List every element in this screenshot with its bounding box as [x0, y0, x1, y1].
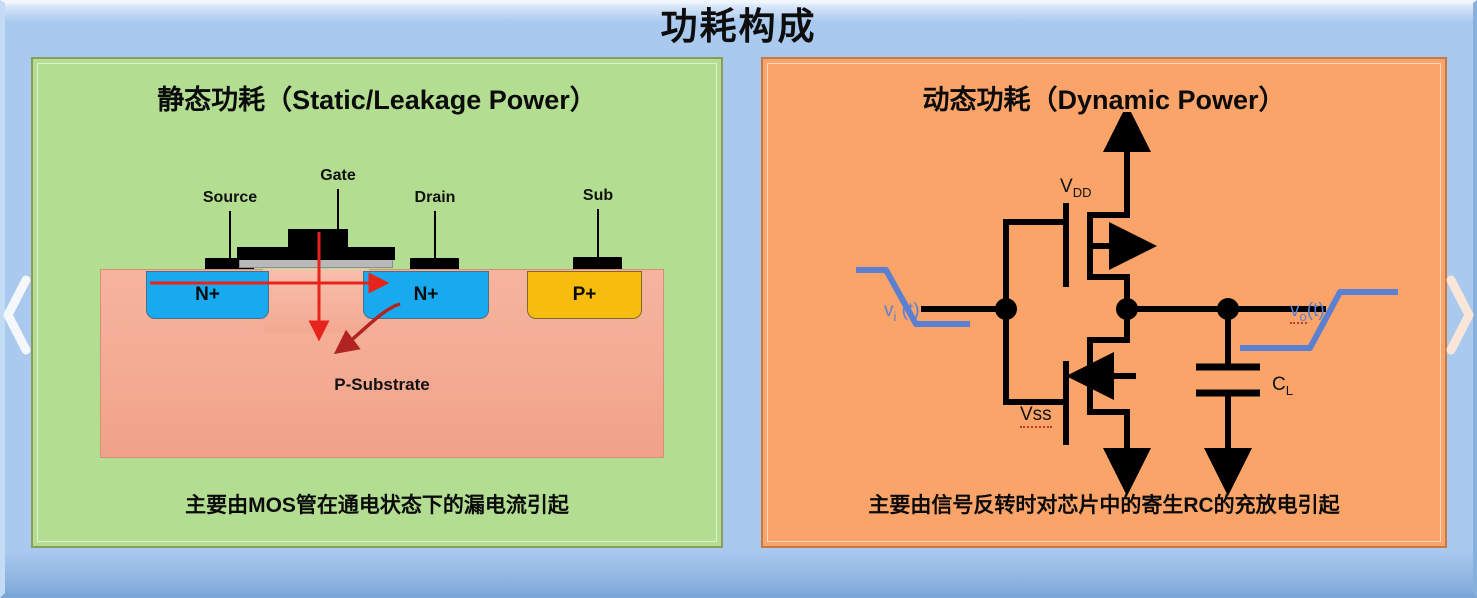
leakage-current-arrows — [100, 119, 664, 509]
panel-static-title: 静态功耗（Static/Leakage Power） — [38, 78, 716, 117]
panel-dynamic-power: 动态功耗（Dynamic Power） — [761, 57, 1447, 548]
panel-static-power: 静态功耗（Static/Leakage Power） Source Gate D… — [31, 57, 723, 548]
label-output-signal: vo(t) — [1290, 300, 1325, 324]
panel-static-inner: 静态功耗（Static/Leakage Power） Source Gate D… — [37, 63, 717, 542]
chevron-left-icon[interactable] — [3, 274, 33, 356]
page-title: 功耗构成 — [0, 4, 1477, 50]
chevron-right-icon[interactable] — [1444, 274, 1474, 356]
label-vdd: VDD — [1060, 176, 1091, 200]
input-node-dot — [995, 298, 1017, 320]
cmos-inverter-diagram: VDD Vss CL vi (t) vo(t) — [828, 112, 1398, 512]
mosfet-cross-section-diagram: Source Gate Drain Sub P-Substrate N+ N+ … — [100, 119, 664, 509]
panel-static-caption: 主要由MOS管在通电状态下的漏电流引起 — [38, 489, 716, 519]
output-node-dot — [1116, 298, 1138, 320]
label-input-signal: vi (t) — [884, 300, 920, 324]
panel-dynamic-caption: 主要由信号反转时对芯片中的寄生RC的充放电引起 — [768, 489, 1440, 519]
load-node-dot — [1217, 298, 1239, 320]
label-vss: Vss — [1020, 404, 1052, 426]
label-cl: CL — [1272, 374, 1293, 398]
panel-dynamic-inner: 动态功耗（Dynamic Power） — [767, 63, 1441, 542]
